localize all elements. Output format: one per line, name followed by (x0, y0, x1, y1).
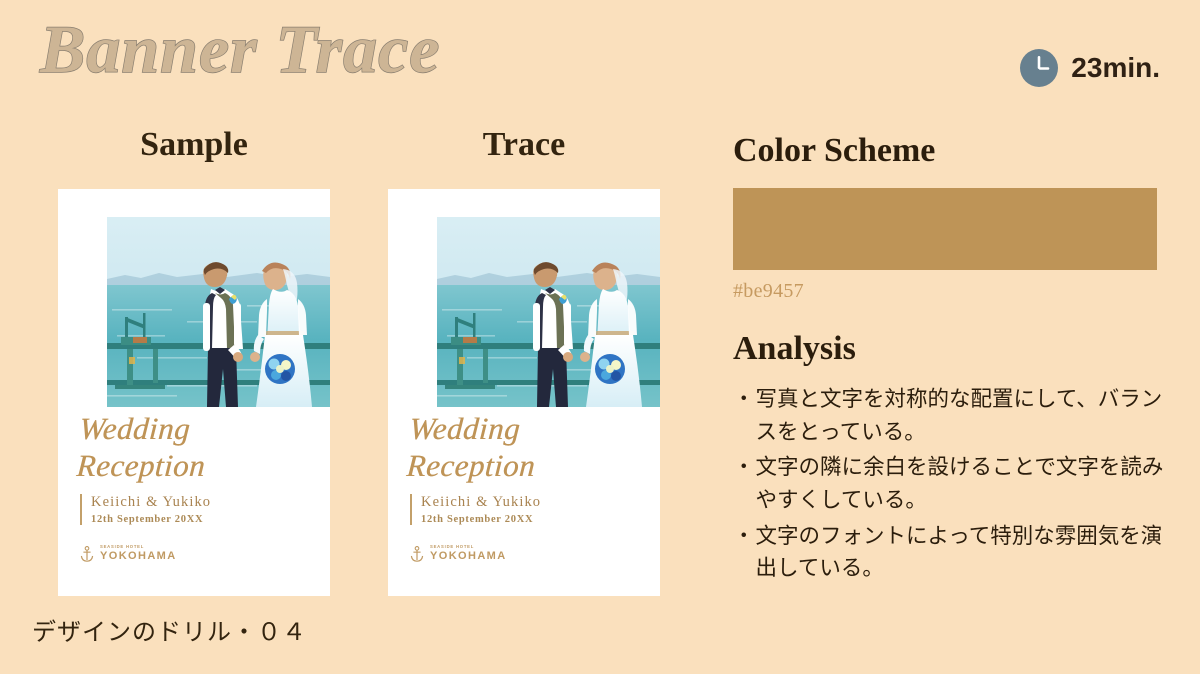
sample-poster[interactable]: Wedding Reception Keiichi & Yukiko 12th … (58, 189, 330, 596)
poster-script-line-1: Wedding (408, 411, 539, 448)
poster-couple-names: Keiichi & Yukiko (421, 494, 541, 511)
poster-logo-text: SEASIDE HOTEL YOKOHAMA (430, 545, 507, 562)
list-item: ・ 写真と文字を対称的な配置にして、バランスをとっている。 (733, 383, 1169, 448)
bullet-marker: ・ (733, 520, 755, 585)
poster-script-title: Wedding Reception (75, 411, 209, 484)
trace-poster[interactable]: Wedding Reception Keiichi & Yukiko 12th … (388, 189, 660, 596)
poster-script-line-2: Reception (405, 448, 536, 485)
list-item: ・ 文字のフォントによって特別な雰囲気を演出している。 (733, 520, 1169, 585)
wedding-photo (107, 217, 330, 407)
timer-label: 23min. (1071, 52, 1160, 84)
list-item: ・ 文字の隣に余白を設けることで文字を読みやすくしている。 (733, 451, 1169, 516)
poster-names-block: Keiichi & Yukiko 12th September 20XX (80, 494, 211, 525)
sample-heading: Sample (58, 126, 330, 164)
analysis-item-text: 写真と文字を対称的な配置にして、バランスをとっている。 (756, 383, 1169, 448)
poster-logo-sub: SEASIDE HOTEL (100, 545, 177, 549)
timer: 23min. (1019, 48, 1160, 88)
analysis-item-text: 文字のフォントによって特別な雰囲気を演出している。 (756, 520, 1169, 585)
color-hex-label: #be9457 (733, 280, 804, 303)
poster-script-line-2: Reception (75, 448, 206, 485)
anchor-icon (80, 546, 94, 562)
bullet-marker: ・ (733, 383, 755, 448)
wedding-couple-photo-graphic (437, 217, 660, 407)
poster-names-block: Keiichi & Yukiko 12th September 20XX (410, 494, 541, 525)
poster-script-line-1: Wedding (78, 411, 209, 448)
poster-logo: SEASIDE HOTEL YOKOHAMA (410, 545, 507, 562)
poster-logo-text: SEASIDE HOTEL YOKOHAMA (100, 545, 177, 562)
clock-icon (1019, 48, 1059, 88)
analysis-item-text: 文字の隣に余白を設けることで文字を読みやすくしている。 (756, 451, 1169, 516)
poster-date: 12th September 20XX (421, 514, 541, 525)
analysis-list: ・ 写真と文字を対称的な配置にして、バランスをとっている。 ・ 文字の隣に余白を… (733, 383, 1169, 588)
slide-canvas: Banner Trace 23min. Sample Trace (0, 0, 1200, 674)
analysis-heading: Analysis (733, 330, 856, 368)
color-scheme-heading: Color Scheme (733, 132, 935, 170)
page-title: Banner Trace (40, 14, 440, 85)
poster-script-title: Wedding Reception (405, 411, 539, 484)
footer-label: デザインのドリル・０４ (32, 612, 307, 647)
trace-heading: Trace (388, 126, 660, 164)
poster-logo-main: YOKOHAMA (430, 551, 507, 562)
anchor-icon (410, 546, 424, 562)
poster-logo: SEASIDE HOTEL YOKOHAMA (80, 545, 177, 562)
color-swatch[interactable] (733, 188, 1157, 270)
wedding-couple-photo-graphic (107, 217, 330, 407)
poster-logo-main: YOKOHAMA (100, 551, 177, 562)
bullet-marker: ・ (733, 451, 755, 516)
poster-logo-sub: SEASIDE HOTEL (430, 545, 507, 549)
wedding-photo (437, 217, 660, 407)
poster-couple-names: Keiichi & Yukiko (91, 494, 211, 511)
poster-date: 12th September 20XX (91, 514, 211, 525)
